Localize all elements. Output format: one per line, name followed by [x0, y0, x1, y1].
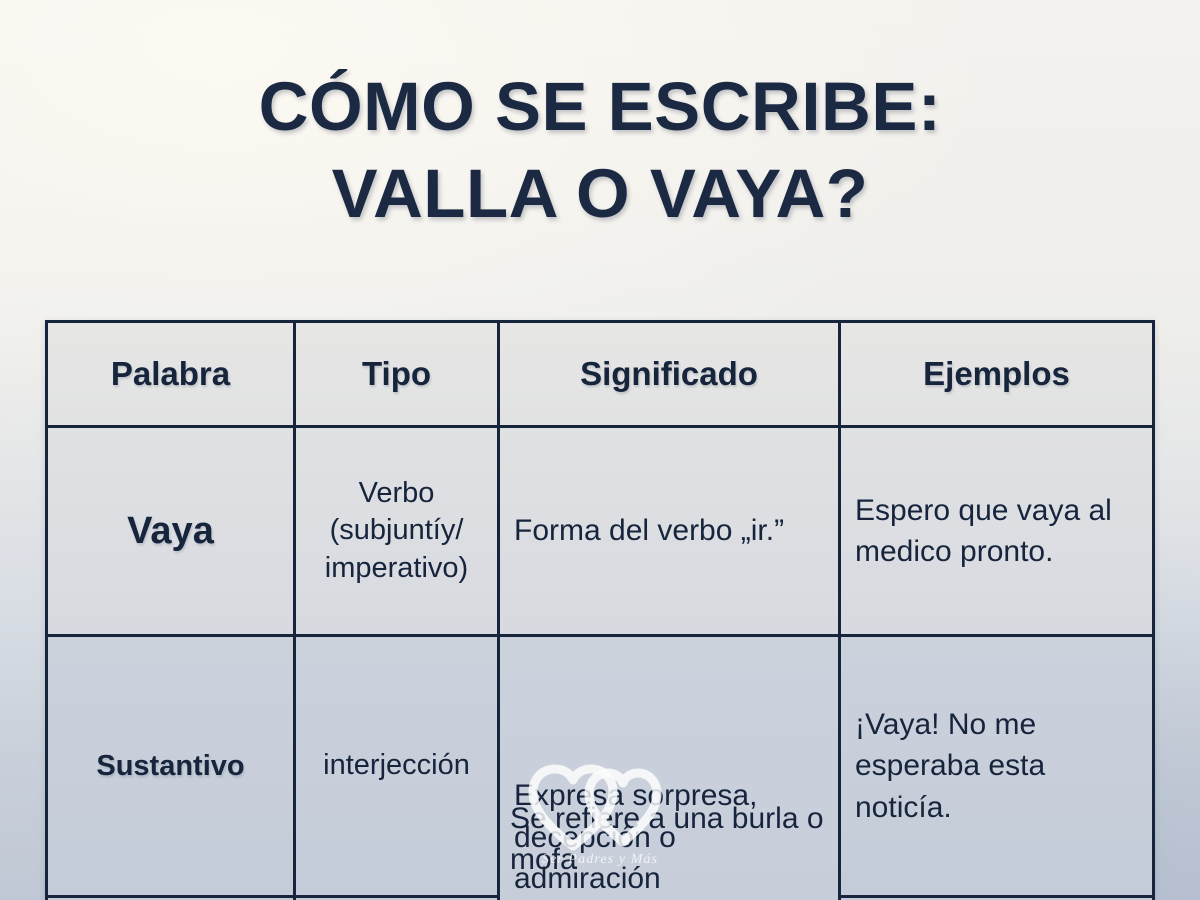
- page-title: CÓMO SE ESCRIBE: VALLA O VAYA?: [0, 72, 1200, 228]
- cell-tipo: [295, 897, 499, 900]
- cell-palabra: Vaya: [47, 427, 295, 636]
- title-line-1: CÓMO SE ESCRIBE:: [0, 72, 1200, 141]
- significado-overflow-text: Se refiere a una burla o mofa: [510, 798, 840, 881]
- cell-tipo: Verbo (subjuntíy/ imperativo): [295, 427, 499, 636]
- cell-palabra: Sustantivo: [47, 636, 295, 897]
- poster-page: CÓMO SE ESCRIBE: VALLA O VAYA? Palabra T…: [0, 0, 1200, 900]
- table-header-row: Palabra Tipo Significado Ejemplos: [47, 322, 1154, 427]
- column-header-ejemplos: Ejemplos: [840, 322, 1154, 427]
- cell-tipo: interjección: [295, 636, 499, 897]
- table-row: Vaya Verbo (subjuntíy/ imperativo) Forma…: [47, 427, 1154, 636]
- title-line-2: VALLA O VAYA?: [0, 159, 1200, 228]
- column-header-tipo: Tipo: [295, 322, 499, 427]
- cell-ejemplos: ¡Vaya! No me esperaba esta noticía.: [840, 636, 1154, 897]
- column-header-significado: Significado: [499, 322, 840, 427]
- column-header-palabra: Palabra: [47, 322, 295, 427]
- cell-significado: Forma del verbo „ir.”: [499, 427, 840, 636]
- cell-ejemplos: Has instalado: [840, 897, 1154, 900]
- cell-ejemplos: Espero que vaya al medico pronto.: [840, 427, 1154, 636]
- cell-palabra: [47, 897, 295, 900]
